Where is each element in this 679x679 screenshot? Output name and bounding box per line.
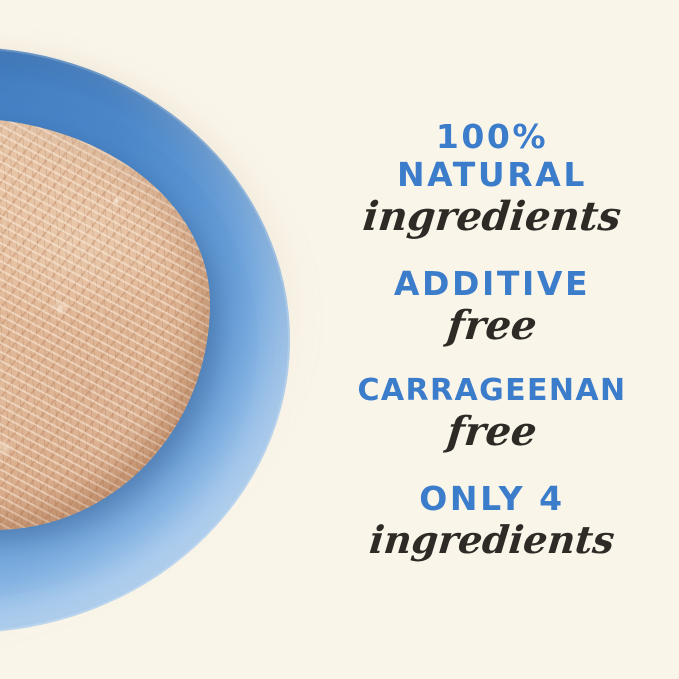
- product-claims-graphic: 100% NATURAL ingredients ADDITIVE free C…: [0, 0, 679, 679]
- claim-carrageenan-free: CARRAGEENAN free: [305, 376, 679, 452]
- claim-carrageenan-cap: CARRAGEENAN: [305, 376, 679, 406]
- claim-natural-cap-line-1: 100%: [305, 120, 679, 153]
- claim-additive-cap: ADDITIVE: [305, 267, 679, 300]
- claim-natural-script: ingredients: [303, 197, 679, 237]
- claim-only4-cap: ONLY 4: [305, 482, 679, 515]
- claim-only-4-ingredients: ONLY 4 ingredients: [305, 482, 679, 559]
- claim-natural-ingredients: 100% NATURAL ingredients: [305, 120, 679, 237]
- claim-only4-script: ingredients: [303, 521, 679, 559]
- product-photo: [0, 0, 330, 679]
- shredded-chicken-food: [0, 118, 210, 530]
- claim-natural-cap-line-2: NATURAL: [305, 158, 679, 191]
- claim-additive-free: ADDITIVE free: [305, 267, 679, 346]
- claims-list: 100% NATURAL ingredients ADDITIVE free C…: [305, 0, 679, 679]
- claim-carrageenan-script: free: [303, 412, 679, 452]
- claim-additive-script: free: [303, 306, 679, 346]
